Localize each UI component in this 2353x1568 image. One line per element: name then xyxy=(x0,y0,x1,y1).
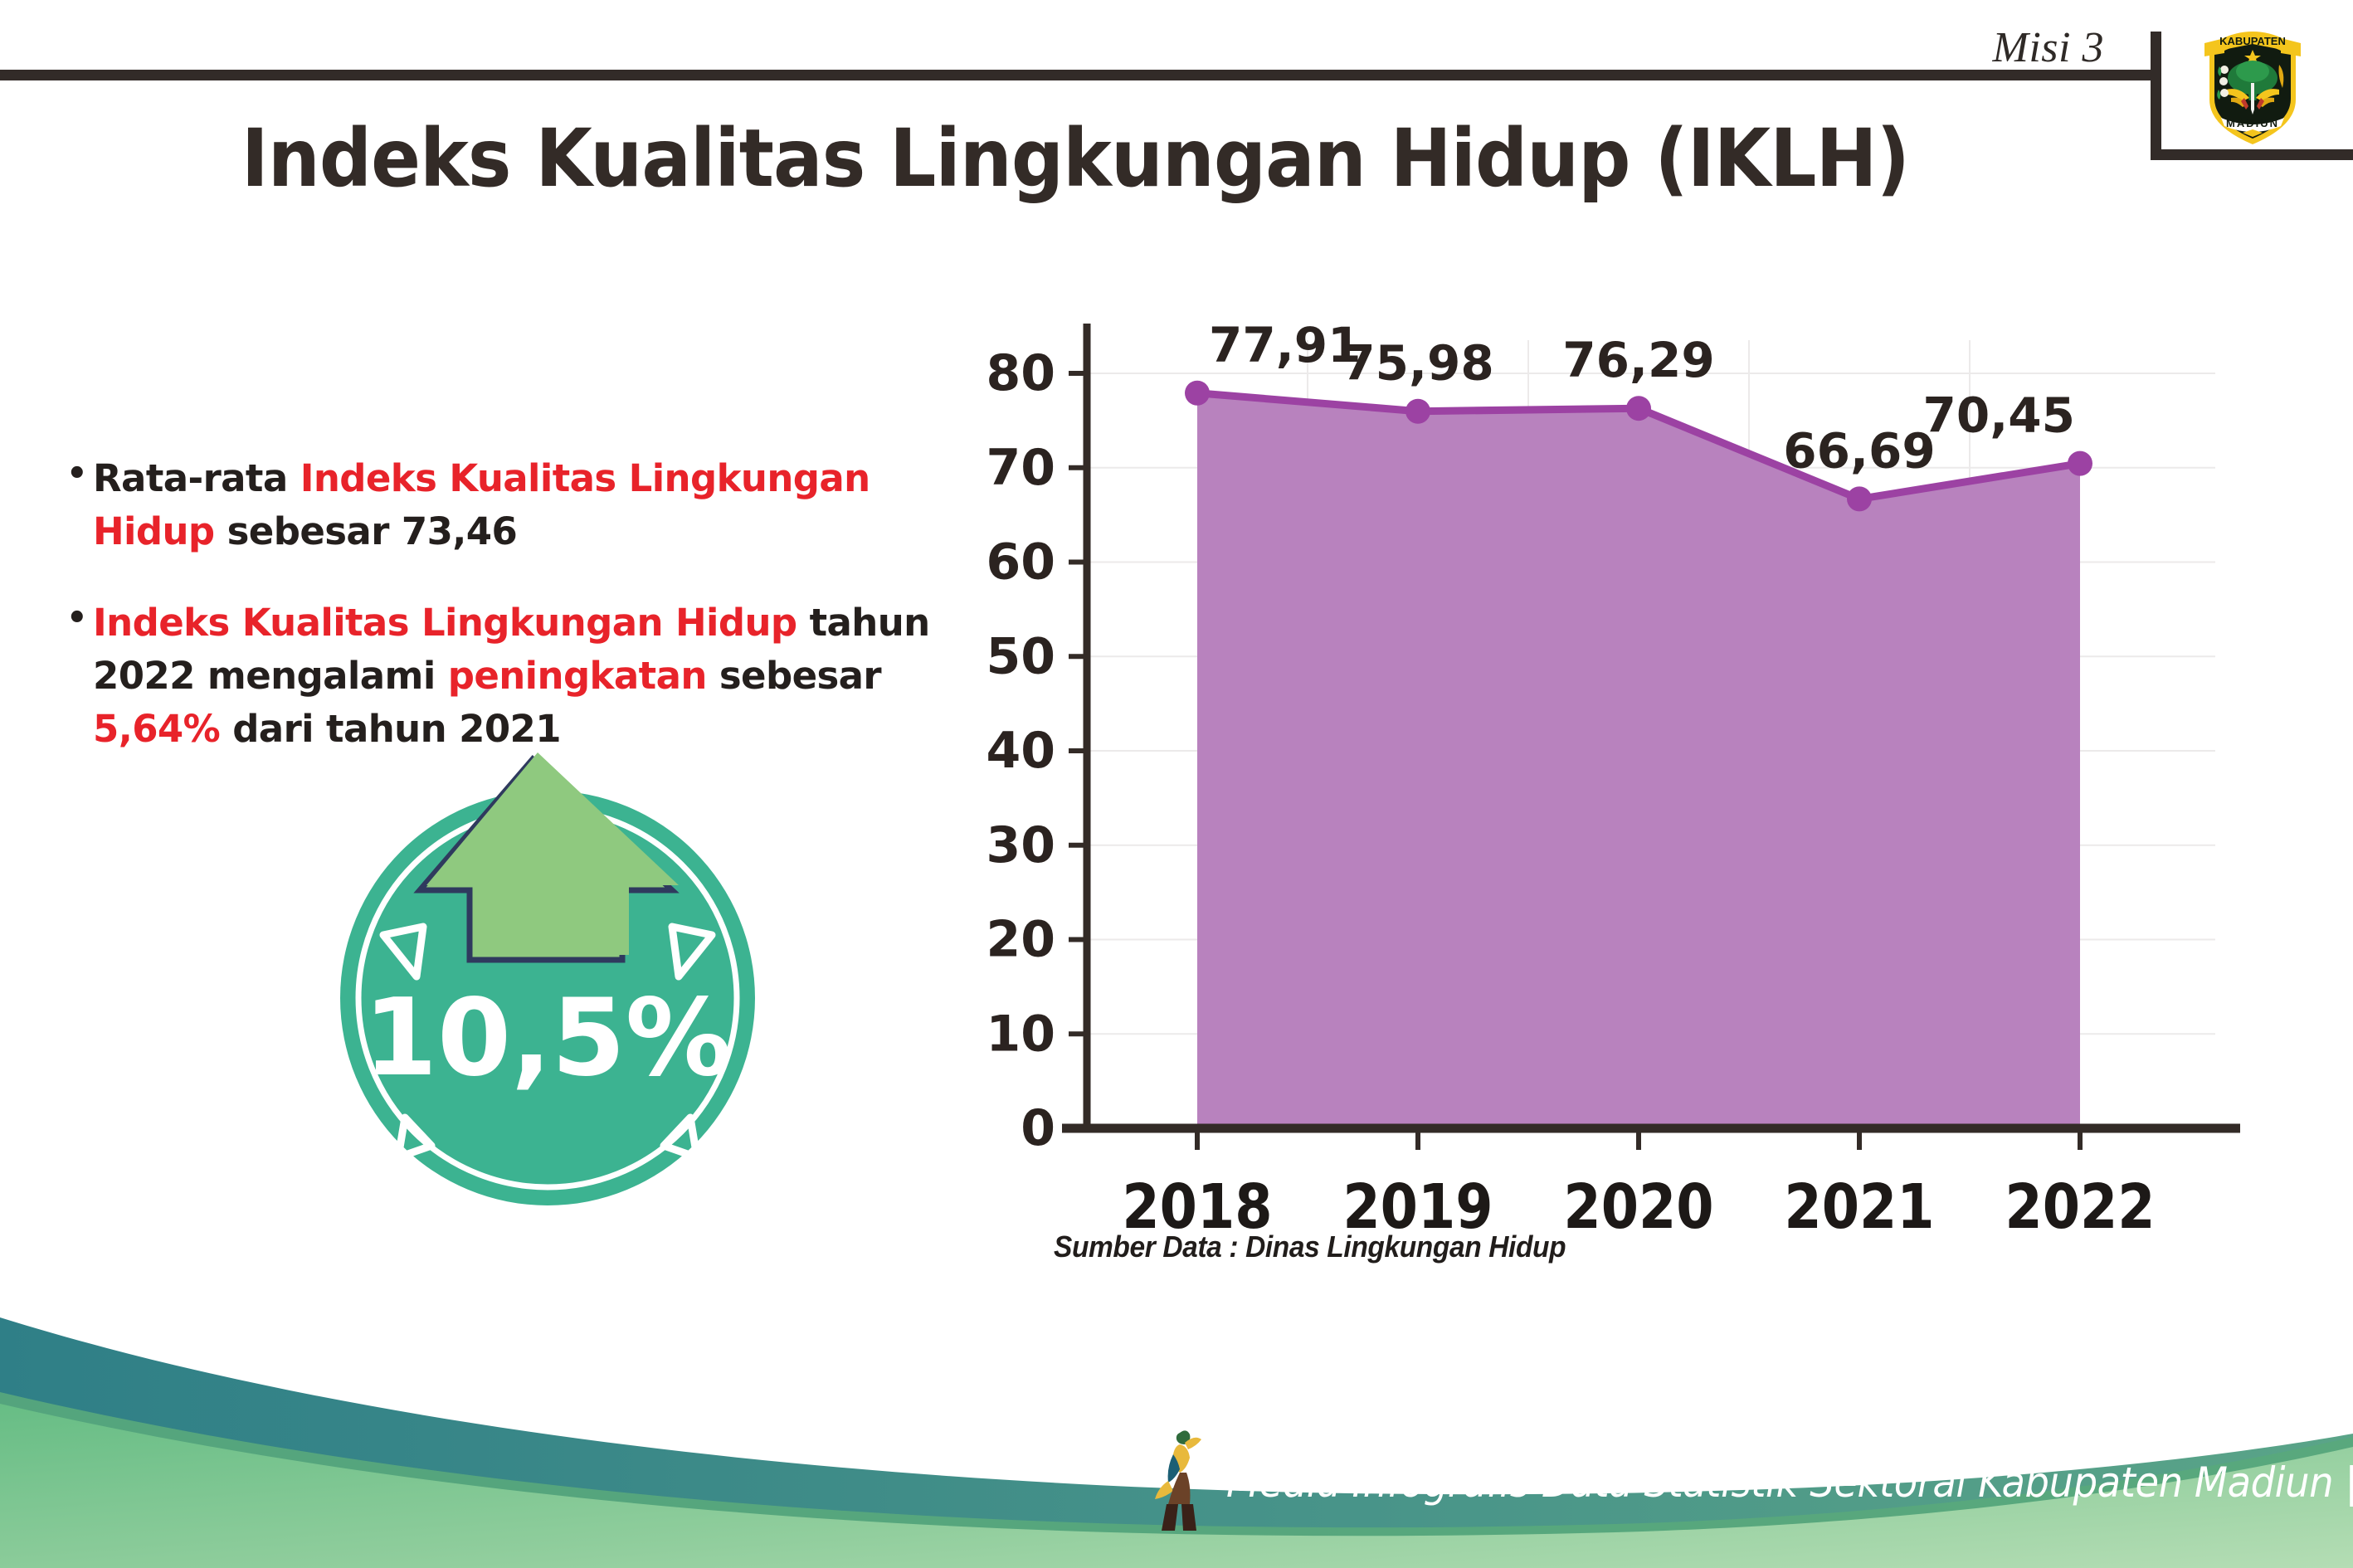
x-axis-label: 2021 xyxy=(1784,1171,1934,1243)
x-axis-label: 2020 xyxy=(1563,1171,1713,1243)
page-title: Indeks Kualitas Lingkungan Hidup (IKLH) xyxy=(86,116,2065,202)
chart-value-label: 70,45 xyxy=(1923,387,2075,444)
chart-marker xyxy=(1626,396,1651,421)
y-axis-label: 50 xyxy=(987,627,1056,685)
chart-marker xyxy=(1405,399,1430,424)
svg-text:MADIUN: MADIUN xyxy=(2226,117,2279,129)
misi-label: Misi 3 xyxy=(1993,23,2104,72)
chart-value-label: 76,29 xyxy=(1562,332,1714,388)
bullet-item: Indeks Kualitas Lingkungan Hidup tahun 2… xyxy=(66,597,954,756)
header-bracket-vertical xyxy=(2151,32,2161,160)
y-axis-label: 20 xyxy=(987,911,1056,969)
y-axis-label: 70 xyxy=(987,439,1056,497)
y-axis-label: 40 xyxy=(987,722,1056,780)
chart-area-fill xyxy=(1197,393,2080,1128)
y-axis-label: 10 xyxy=(987,1005,1056,1063)
badge-value: 10,5% xyxy=(363,976,732,1100)
chart-x-axis xyxy=(1062,1128,2240,1150)
chart-value-label: 75,98 xyxy=(1342,335,1493,392)
y-axis-label: 60 xyxy=(987,533,1056,592)
iklh-area-chart: 77,9175,9876,2966,6970,45 01020304050607… xyxy=(954,274,2282,1294)
svg-text:KABUPATEN: KABUPATEN xyxy=(2219,35,2286,47)
chart-marker xyxy=(1185,381,1210,406)
bullet-item: Rata-rata Indeks Kualitas Lingkungan Hid… xyxy=(66,452,954,558)
bullet-segment-highlight: peningkatan xyxy=(448,654,707,698)
chart-source-note: Sumber Data : Dinas Lingkungan Hidup xyxy=(1054,1230,1566,1264)
bullet-segment-highlight: 5,64% xyxy=(93,707,220,751)
chart-y-axis: 01020304050607080 xyxy=(987,324,1088,1157)
kabupaten-madiun-logo-icon: KABUPATEN MADIUN xyxy=(2195,18,2311,151)
y-axis-label: 0 xyxy=(1021,1099,1055,1157)
bullet-segment: sebesar xyxy=(707,654,881,698)
increase-badge-graphic: 10,5% xyxy=(307,743,788,1215)
footer-text: Media Infografis Data Statistik Sektoral… xyxy=(1226,1458,2353,1507)
chart-marker xyxy=(2068,451,2092,476)
chart-marker xyxy=(1847,486,1872,511)
bullet-segment: sebesar 73,46 xyxy=(215,509,518,553)
y-axis-label: 30 xyxy=(987,816,1056,874)
header-rule xyxy=(0,70,2151,80)
x-axis-label: 2022 xyxy=(2005,1171,2155,1243)
dancer-logo-icon xyxy=(1143,1421,1218,1537)
increase-badge: 10,5% xyxy=(307,743,788,1215)
chart-value-label: 66,69 xyxy=(1783,422,1935,479)
bullet-segment: Rata-rata xyxy=(93,456,300,500)
bullet-segment-highlight: Indeks Kualitas Lingkungan Hidup xyxy=(93,601,797,645)
slide-canvas: Misi 3 KABUPATEN MADIUN Indeks Kualitas … xyxy=(0,0,2353,1568)
chart-value-label: 77,91 xyxy=(1209,317,1361,373)
y-axis-label: 80 xyxy=(987,344,1056,402)
chart-panel: 77,9175,9876,2966,6970,45 01020304050607… xyxy=(954,274,2282,1294)
